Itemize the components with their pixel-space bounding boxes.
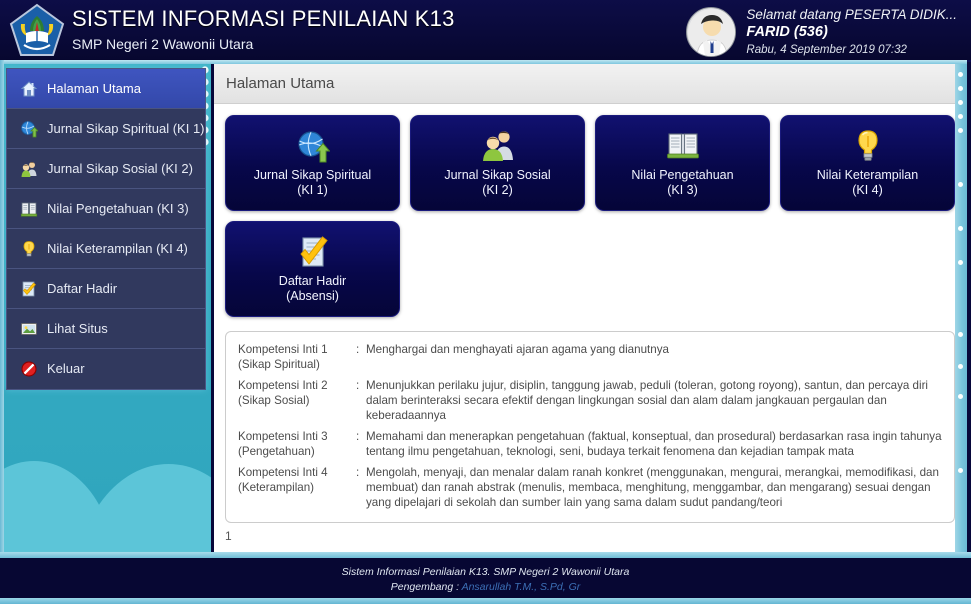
rail-dot <box>958 468 963 473</box>
card-sublabel: (KI 2) <box>482 183 513 198</box>
competency-name-line2: (Sikap Spiritual) <box>238 357 356 372</box>
sidebar-item-daftar-hadir[interactable]: Daftar Hadir <box>7 269 205 309</box>
rail-dot <box>958 260 963 265</box>
welcome-text: Selamat datang PESERTA DIDIK... <box>746 6 957 23</box>
lightbulb-icon <box>20 240 38 258</box>
checklist-icon <box>296 235 330 269</box>
competency-row: Kompetensi Inti 3 (Pengetahuan) : Memaha… <box>238 429 942 459</box>
competency-name-line2: (Keterampilan) <box>238 480 356 495</box>
sidebar-item-label: Jurnal Sikap Spiritual (KI 1) <box>47 121 205 137</box>
card-nilai-pengetahuan[interactable]: Nilai Pengetahuan (KI 3) <box>595 115 770 211</box>
logout-icon <box>20 360 38 378</box>
globe-add-icon <box>20 120 38 138</box>
card-sublabel: (Absensi) <box>286 289 339 304</box>
school-name: SMP Negeri 2 Wawonii Utara <box>72 34 455 54</box>
rail-dot <box>958 226 963 231</box>
checklist-icon <box>20 280 38 298</box>
app-title-block: SISTEM INFORMASI PENILAIAN K13 SMP Neger… <box>72 5 455 54</box>
lightbulb-icon <box>851 129 885 163</box>
rail-dot <box>958 100 963 105</box>
user-avatar-icon <box>686 7 736 57</box>
wave-decoration-right <box>76 464 211 556</box>
tut-wuri-handayani-emblem <box>8 3 66 59</box>
page-title: SISTEM INFORMASI PENILAIAN K13 <box>72 5 455 33</box>
competency-name-line1: Kompetensi Inti 2 <box>238 379 328 392</box>
card-label: Jurnal Sikap Sosial <box>444 168 550 183</box>
card-sublabel: (KI 3) <box>667 183 698 198</box>
rail-dot <box>958 332 963 337</box>
book-icon <box>20 200 38 218</box>
rail-dot <box>958 128 963 133</box>
sidebar-item-nilai-pengetahuan[interactable]: Nilai Pengetahuan (KI 3) <box>7 189 205 229</box>
competency-name-line2: (Pengetahuan) <box>238 444 356 459</box>
globe-add-icon <box>296 129 330 163</box>
competency-name-line1: Kompetensi Inti 4 <box>238 466 328 479</box>
footer-developer-line: Pengembang : Ansarullah T.M., S.Pd, Gr <box>0 580 971 595</box>
sidebar-item-label: Daftar Hadir <box>47 281 117 297</box>
page-number: 1 <box>225 529 966 543</box>
card-label: Nilai Keterampilan <box>817 168 918 183</box>
application-window: SISTEM INFORMASI PENILAIAN K13 SMP Neger… <box>0 0 971 604</box>
sidebar-item-label: Lihat Situs <box>47 321 108 337</box>
right-rail-scroll-decoration[interactable] <box>955 64 967 556</box>
competency-row: Kompetensi Inti 2 (Sikap Sosial) : Menun… <box>238 378 942 423</box>
competency-name-line1: Kompetensi Inti 1 <box>238 343 328 356</box>
content-header: Halaman Utama <box>214 64 966 104</box>
rail-dot <box>958 182 963 187</box>
competency-description: Mengolah, menyaji, dan menalar dalam ran… <box>366 465 942 510</box>
current-datetime: Rabu, 4 September 2019 07:32 <box>746 42 957 58</box>
sidebar-item-nilai-keterampilan[interactable]: Nilai Keterampilan (KI 4) <box>7 229 205 269</box>
card-label: Jurnal Sikap Spiritual <box>254 168 371 183</box>
card-sublabel: (KI 1) <box>297 183 328 198</box>
footer-developer-name[interactable]: Ansarullah T.M., S.Pd, Gr <box>462 581 581 593</box>
competency-description: Memahami dan menerapkan pengetahuan (fak… <box>366 429 942 459</box>
user-name: FARID (536) <box>746 23 957 42</box>
competency-colon: : <box>356 429 366 459</box>
competency-colon: : <box>356 378 366 423</box>
open-book-icon <box>666 129 700 163</box>
competency-row: Kompetensi Inti 1 (Sikap Spiritual) : Me… <box>238 342 942 372</box>
user-text: Selamat datang PESERTA DIDIK... FARID (5… <box>746 4 957 58</box>
rail-dot <box>958 86 963 91</box>
competency-description: Menunjukkan perilaku jujur, disiplin, ta… <box>366 378 942 423</box>
bottom-strip <box>0 598 971 604</box>
sidebar-item-lihat-situs[interactable]: Lihat Situs <box>7 309 205 349</box>
footer-system-name: Sistem Informasi Penilaian K13. SMP Nege… <box>0 565 971 580</box>
content-title: Halaman Utama <box>226 75 334 92</box>
competency-name: Kompetensi Inti 2 (Sikap Sosial) <box>238 378 356 423</box>
main-content: Halaman Utama Jurnal Sikap Spiritual (KI… <box>214 64 966 556</box>
competency-colon: : <box>356 342 366 372</box>
competency-panel: Kompetensi Inti 1 (Sikap Spiritual) : Me… <box>225 331 955 523</box>
competency-name-line1: Kompetensi Inti 3 <box>238 430 328 443</box>
card-daftar-hadir[interactable]: Daftar Hadir (Absensi) <box>225 221 400 317</box>
sidebar-item-label: Nilai Pengetahuan (KI 3) <box>47 201 189 217</box>
card-label: Nilai Pengetahuan <box>631 168 733 183</box>
competency-name: Kompetensi Inti 4 (Keterampilan) <box>238 465 356 510</box>
card-jurnal-sikap-spiritual[interactable]: Jurnal Sikap Spiritual (KI 1) <box>225 115 400 211</box>
people-icon <box>20 160 38 178</box>
home-icon <box>20 80 38 98</box>
competency-colon: : <box>356 465 366 510</box>
module-card-grid: Jurnal Sikap Spiritual (KI 1) Jurnal Sik… <box>214 104 966 317</box>
card-nilai-keterampilan[interactable]: Nilai Keterampilan (KI 4) <box>780 115 955 211</box>
card-jurnal-sikap-sosial[interactable]: Jurnal Sikap Sosial (KI 2) <box>410 115 585 211</box>
picture-icon <box>20 320 38 338</box>
card-label: Daftar Hadir <box>279 274 346 289</box>
rail-dot <box>958 394 963 399</box>
competency-description: Menghargai dan menghayati ajaran agama y… <box>366 342 942 372</box>
competency-name: Kompetensi Inti 3 (Pengetahuan) <box>238 429 356 459</box>
sidebar-item-label: Keluar <box>47 361 85 377</box>
sidebar-item-jurnal-sikap-spiritual[interactable]: Jurnal Sikap Spiritual (KI 1) <box>7 109 205 149</box>
rail-dot <box>958 72 963 77</box>
sidebar-item-label: Nilai Keterampilan (KI 4) <box>47 241 188 257</box>
sidebar-item-label: Jurnal Sikap Sosial (KI 2) <box>47 161 193 177</box>
sidebar-menu: Halaman Utama Jurnal Sikap Spiritual (KI… <box>6 68 206 390</box>
competency-row: Kompetensi Inti 4 (Keterampilan) : Mengo… <box>238 465 942 510</box>
sidebar-item-jurnal-sikap-sosial[interactable]: Jurnal Sikap Sosial (KI 2) <box>7 149 205 189</box>
user-info-block: Selamat datang PESERTA DIDIK... FARID (5… <box>686 4 957 60</box>
footer-developer-label: Pengembang : <box>391 581 462 593</box>
app-footer: Sistem Informasi Penilaian K13. SMP Nege… <box>0 558 971 598</box>
sidebar-item-label: Halaman Utama <box>47 81 141 97</box>
rail-dot <box>958 364 963 369</box>
people-icon <box>481 129 515 163</box>
competency-name-line2: (Sikap Sosial) <box>238 393 356 408</box>
competency-name: Kompetensi Inti 1 (Sikap Spiritual) <box>238 342 356 372</box>
rail-dot <box>958 114 963 119</box>
sidebar-item-halaman-utama[interactable]: Halaman Utama <box>7 69 205 109</box>
sidebar-item-keluar[interactable]: Keluar <box>7 349 205 389</box>
card-sublabel: (KI 4) <box>852 183 883 198</box>
app-header: SISTEM INFORMASI PENILAIAN K13 SMP Neger… <box>0 0 971 62</box>
